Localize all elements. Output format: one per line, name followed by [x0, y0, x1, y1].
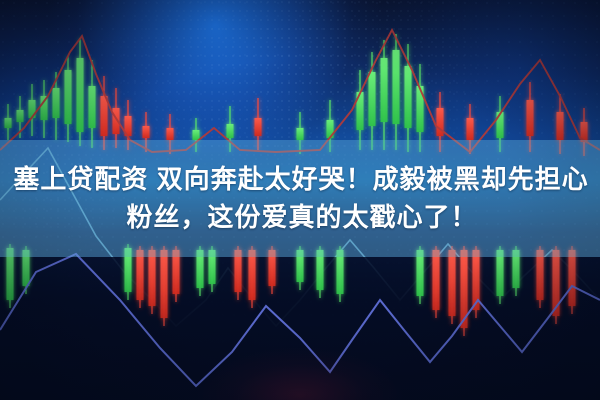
banner-image: 塞上贷配资 双向奔赴太好哭！成毅被黑却先担心 粉丝，这份爱真的太戳心了！	[0, 0, 600, 400]
caption-text-block: 塞上贷配资 双向奔赴太好哭！成毅被黑却先担心 粉丝，这份爱真的太戳心了！	[0, 140, 600, 257]
caption-line-1: 塞上贷配资 双向奔赴太好哭！成毅被黑却先担心	[11, 164, 588, 196]
caption-line-2: 粉丝，这份爱真的太戳心了！	[122, 202, 477, 234]
